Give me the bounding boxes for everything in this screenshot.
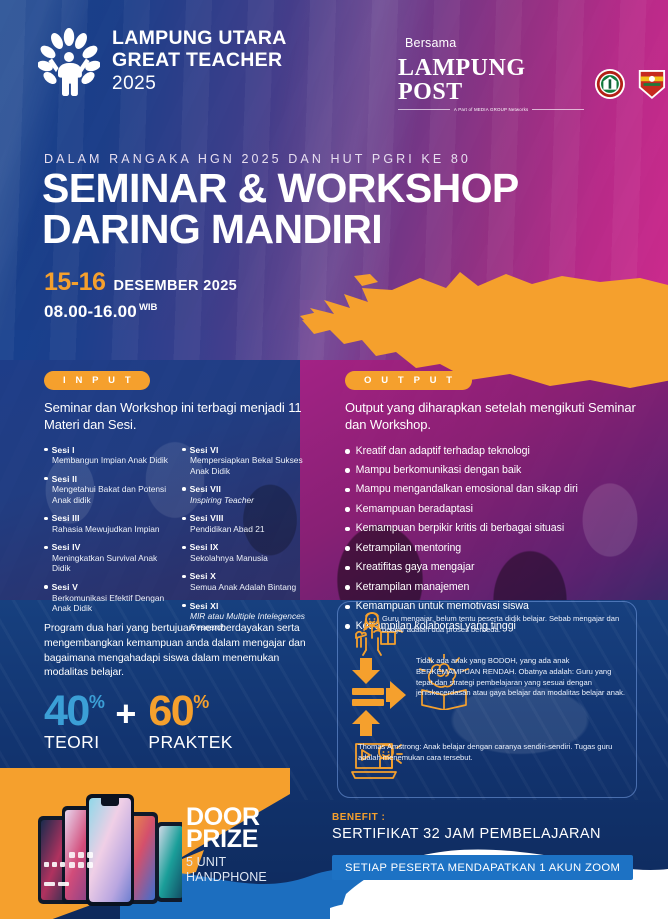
door-prize-title-line2: PRIZE	[186, 828, 267, 850]
benefit-value: SERTIFIKAT 32 JAM PEMBELAJARAN	[332, 826, 601, 842]
bullet-icon	[345, 507, 350, 512]
session-item: Sesi XSemua Anak Adalah Bintang	[182, 571, 306, 592]
session-title-label: Sesi VII	[190, 484, 221, 494]
handphone-stack-image	[22, 790, 182, 919]
session-title: Sesi IV	[44, 542, 168, 552]
info-item-1: Guru mengajar, belum tentu peserta didik…	[382, 612, 628, 636]
lampung-post-wordmark: LAMPUNG POST	[398, 56, 584, 104]
session-column-right: Sesi VIMempersiapkan Bekal Sukses Anak D…	[182, 445, 306, 641]
session-description: Semua Anak Adalah Bintang	[190, 582, 306, 593]
poster-root: LAMPUNG UTARA GREAT TEACHER 2025 Bersama…	[0, 0, 668, 919]
session-description: Inspiring Teacher	[190, 495, 306, 506]
session-columns: Sesi IMembangun Impian Anak DidikSesi II…	[44, 445, 314, 641]
output-list-item-label: Mampu berkomunikasi dengan baik	[356, 465, 522, 477]
practice-percent-sign: %	[193, 694, 208, 710]
door-prize-sub-line1: 5 UNIT	[186, 855, 267, 870]
session-title-label: Sesi III	[52, 513, 80, 523]
info-item-3: Thomas Amstrong: Anak belajar dengan car…	[358, 742, 628, 764]
bullet-icon	[345, 546, 350, 551]
info-item-2-text: Tidak ada anak yang BODOH, yang ada anak…	[416, 656, 628, 699]
bullet-icon	[44, 477, 48, 481]
tree-person-icon	[38, 28, 100, 96]
output-list-item: Ketrampilan manajemen	[345, 582, 645, 594]
info-item-1-text: Guru mengajar, belum tentu peserta didik…	[382, 612, 628, 636]
rule-right	[532, 109, 584, 110]
output-badge: O U T P U T	[345, 371, 472, 390]
partner-logos: LAMPUNG POST A Part of MEDIA GROUP Netwo…	[398, 56, 668, 112]
output-list-item: Kreatifitas gaya mengajar	[345, 562, 645, 574]
brand-year: 2025	[112, 73, 287, 96]
session-title-label: Sesi IV	[52, 542, 81, 552]
plus-sign: +	[115, 696, 136, 732]
input-badge: I N P U T	[44, 371, 150, 390]
session-title: Sesi VIII	[182, 513, 306, 523]
zoom-account-note: SETIAP PESERTA MENDAPATKAN 1 AKUN ZOOM	[332, 855, 633, 880]
session-item: Sesi VBerkomunikasi Efektif Dengan Anak …	[44, 582, 168, 614]
bullet-icon	[345, 585, 350, 590]
output-section: O U T P U T Output yang diharapkan setel…	[345, 370, 645, 640]
input-section: I N P U T Seminar dan Workshop ini terba…	[44, 370, 314, 640]
session-description: Pendidikan Abad 21	[190, 524, 306, 535]
event-date-month: DESEMBER 2025	[113, 278, 237, 294]
bullet-icon	[345, 566, 350, 571]
session-title: Sesi VII	[182, 484, 306, 494]
output-list-item-label: Kemampuan berpikir kritis di berbagai si…	[356, 523, 565, 535]
session-title: Sesi III	[44, 513, 168, 523]
output-list-item-label: Ketrampilan manajemen	[356, 582, 470, 594]
session-title: Sesi V	[44, 582, 168, 592]
input-lead: Seminar dan Workshop ini terbagi menjadi…	[44, 399, 314, 434]
door-prize-subtitle: 5 UNIT HANDPHONE	[186, 855, 267, 885]
output-list-item-label: Kemampuan beradaptasi	[356, 504, 473, 516]
session-description: Mengetahui Bakat dan Potensi Anak didik	[52, 484, 168, 505]
lampung-post-subline: A Part of MEDIA GROUP Networks	[398, 107, 584, 112]
pgri-seal-icon	[594, 67, 626, 101]
output-list-item-label: Ketrampilan mentoring	[356, 543, 462, 555]
bersama-label: Bersama	[405, 36, 456, 50]
output-list-item-label: Kreatifitas gaya mengajar	[356, 562, 475, 574]
lampung-post-tagline: A Part of MEDIA GROUP Networks	[454, 107, 528, 112]
session-description: Sekolahnya Manusia	[190, 553, 306, 564]
session-title: Sesi I	[44, 445, 168, 455]
rule-left	[398, 109, 450, 110]
output-list-item-label: Mampu mengandalkan emosional dan sikap d…	[356, 484, 578, 496]
session-item: Sesi IVMeningkatkan Survival Anak Didik	[44, 542, 168, 574]
bullet-icon	[44, 448, 48, 452]
bullet-icon	[345, 488, 350, 493]
session-description: Membangun Impian Anak Didik	[52, 455, 168, 466]
brand-line-1: LAMPUNG UTARA	[112, 28, 287, 50]
theory-percent-sign: %	[89, 694, 104, 710]
theory-value: 40	[44, 692, 89, 731]
practice-number-wrap: 60 %	[148, 692, 233, 731]
output-list-item-label: Kreatif dan adaptif terhadap teknologi	[356, 446, 530, 458]
output-list-item: Ketrampilan mentoring	[345, 543, 645, 555]
session-title-label: Sesi II	[52, 474, 78, 484]
page-title: SEMINAR & WORKSHOP DARING MANDIRI	[42, 168, 519, 249]
not-equal-arrows-icon	[346, 658, 408, 736]
lampung-post-logo: LAMPUNG POST A Part of MEDIA GROUP Netwo…	[398, 56, 584, 112]
session-title-label: Sesi XI	[190, 601, 219, 611]
session-title-label: Sesi V	[52, 582, 78, 592]
output-list-item: Mampu mengandalkan emosional dan sikap d…	[345, 484, 645, 496]
info-item-2: Tidak ada anak yang BODOH, yang ada anak…	[416, 656, 628, 699]
title-line-1: SEMINAR & WORKSHOP	[42, 165, 519, 211]
session-title: Sesi X	[182, 571, 306, 581]
door-prize-title: DOOR PRIZE	[186, 806, 267, 850]
info-item-3-text: Thomas Amstrong: Anak belajar dengan car…	[358, 742, 628, 764]
door-prize-sub-line2: HANDPHONE	[186, 870, 267, 885]
brand-wordmark: LAMPUNG UTARA GREAT TEACHER 2025	[112, 28, 287, 95]
session-title-label: Sesi I	[52, 445, 75, 455]
benefit-label: BENEFIT :	[332, 812, 601, 823]
session-title-label: Sesi VIII	[190, 513, 224, 523]
output-lead: Output yang diharapkan setelah mengikuti…	[345, 399, 645, 434]
session-title-label: Sesi X	[190, 571, 216, 581]
practice-label: PRAKTEK	[148, 732, 233, 753]
program-description: Program dua hari yang bertujuan memberda…	[44, 622, 309, 681]
practice-block: 60 % PRAKTEK	[148, 692, 233, 753]
event-date: 15-16 DESEMBER 2025	[44, 268, 237, 297]
benefit-block: BENEFIT : SERTIFIKAT 32 JAM PEMBELAJARAN	[332, 812, 601, 842]
theory-number-wrap: 40 %	[44, 692, 103, 731]
session-item: Sesi VIMempersiapkan Bekal Sukses Anak D…	[182, 445, 306, 477]
theory-practice-ratio: 40 % TEORI + 60 % PRAKTEK	[44, 692, 233, 753]
bullet-icon	[182, 546, 186, 550]
session-title: Sesi IX	[182, 542, 306, 552]
session-item: Sesi IXSekolahnya Manusia	[182, 542, 306, 563]
practice-value: 60	[148, 692, 193, 731]
session-description: Rahasia Mewujudkan Impian	[52, 524, 168, 535]
theory-block: 40 % TEORI	[44, 692, 103, 753]
poster-header: LAMPUNG UTARA GREAT TEACHER 2025 Bersama…	[0, 0, 668, 120]
session-item: Sesi IMembangun Impian Anak Didik	[44, 445, 168, 466]
output-list-item: Kemampuan berpikir kritis di berbagai si…	[345, 523, 645, 535]
bullet-icon	[182, 604, 186, 608]
event-time-range: 08.00-16.00	[44, 302, 137, 322]
output-list-item: Kemampuan beradaptasi	[345, 504, 645, 516]
session-title: Sesi XI	[182, 601, 306, 611]
info-box: Guru mengajar, belum tentu peserta didik…	[337, 601, 637, 798]
bullet-icon	[44, 517, 48, 521]
title-line-2: DARING MANDIRI	[42, 209, 519, 250]
session-item: Sesi VIIInspiring Teacher	[182, 484, 306, 505]
bullet-icon	[182, 448, 186, 452]
output-list-item: Mampu berkomunikasi dengan baik	[345, 465, 645, 477]
event-timezone: WIB	[139, 302, 157, 313]
brand-logo: LAMPUNG UTARA GREAT TEACHER 2025	[38, 28, 287, 96]
bullet-icon	[182, 487, 186, 491]
bullet-icon	[345, 527, 350, 532]
session-item: Sesi IIMengetahui Bakat dan Potensi Anak…	[44, 474, 168, 506]
session-item: Sesi IIIRahasia Mewujudkan Impian	[44, 513, 168, 534]
session-column-left: Sesi IMembangun Impian Anak DidikSesi II…	[44, 445, 168, 641]
bullet-icon	[182, 517, 186, 521]
session-item: Sesi VIIIPendidikan Abad 21	[182, 513, 306, 534]
bullet-icon	[345, 468, 350, 473]
hero-kicker: DALAM RANGAKA HGN 2025 DAN HUT PGRI KE 8…	[44, 152, 471, 166]
lampung-utara-seal-icon	[636, 67, 668, 101]
session-title-label: Sesi VI	[190, 445, 219, 455]
session-description: Berkomunikasi Efektif Dengan Anak Didik	[52, 593, 168, 614]
brand-line-2: GREAT TEACHER	[112, 50, 287, 72]
bullet-icon	[44, 546, 48, 550]
event-date-number: 15-16	[44, 268, 105, 297]
bullet-icon	[44, 585, 48, 589]
session-title: Sesi II	[44, 474, 168, 484]
session-description: Meningkatkan Survival Anak Didik	[52, 553, 168, 574]
bullet-icon	[345, 449, 350, 454]
bullet-icon	[182, 575, 186, 579]
event-time: 08.00-16.00 WIB	[44, 302, 157, 322]
session-description: Mempersiapkan Bekal Sukses Anak Didik	[190, 455, 306, 476]
output-list-item: Kreatif dan adaptif terhadap teknologi	[345, 446, 645, 458]
session-title-label: Sesi IX	[190, 542, 219, 552]
theory-label: TEORI	[44, 732, 103, 753]
door-prize: DOOR PRIZE 5 UNIT HANDPHONE	[186, 806, 267, 885]
session-title: Sesi VI	[182, 445, 306, 455]
